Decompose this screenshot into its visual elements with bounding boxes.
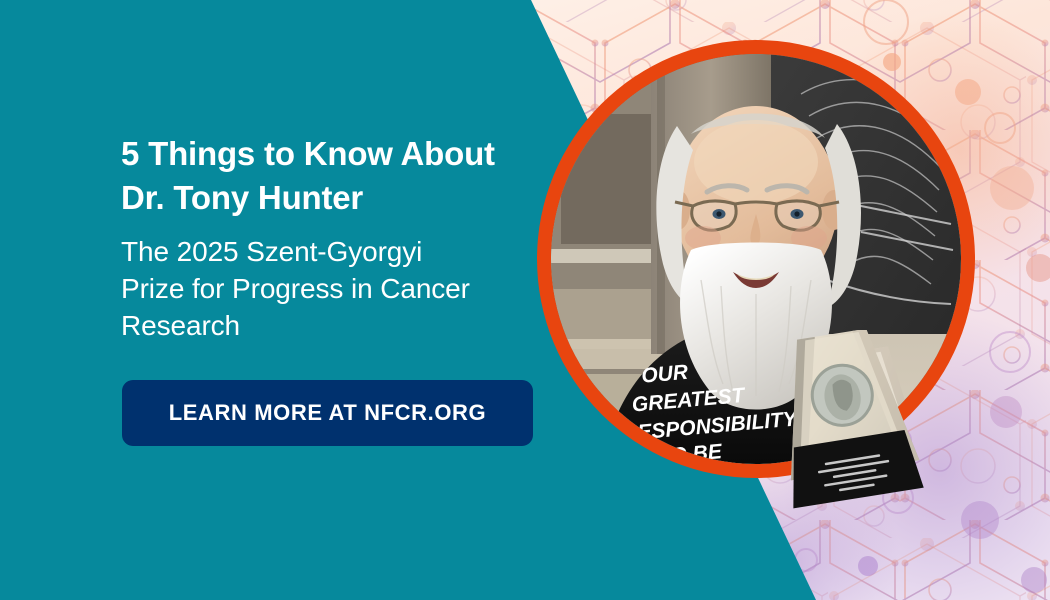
- promo-banner: OUR GREATEST RESPONSIBILITY IS TO BE: [0, 0, 1050, 600]
- portrait-image: OUR GREATEST RESPONSIBILITY IS TO BE: [551, 54, 961, 464]
- subhead-line-2: Prize for Progress in Cancer: [121, 273, 470, 304]
- subhead-line-3: Research: [121, 310, 240, 341]
- headline-line-1: 5 Things to Know About: [121, 135, 495, 172]
- page-title: 5 Things to Know About Dr. Tony Hunter: [121, 132, 541, 220]
- portrait-ring: OUR GREATEST RESPONSIBILITY IS TO BE: [537, 40, 975, 478]
- subtitle: The 2025 Szent-Gyorgyi Prize for Progres…: [121, 234, 541, 345]
- portrait-photo: OUR GREATEST RESPONSIBILITY IS TO BE: [551, 54, 961, 464]
- text-block: 5 Things to Know About Dr. Tony Hunter T…: [121, 132, 541, 345]
- svg-text:OUR: OUR: [640, 361, 689, 388]
- headline-line-2: Dr. Tony Hunter: [121, 179, 363, 216]
- subhead-line-1: The 2025 Szent-Gyorgyi: [121, 236, 422, 267]
- learn-more-button[interactable]: LEARN MORE AT NFCR.ORG: [122, 380, 533, 446]
